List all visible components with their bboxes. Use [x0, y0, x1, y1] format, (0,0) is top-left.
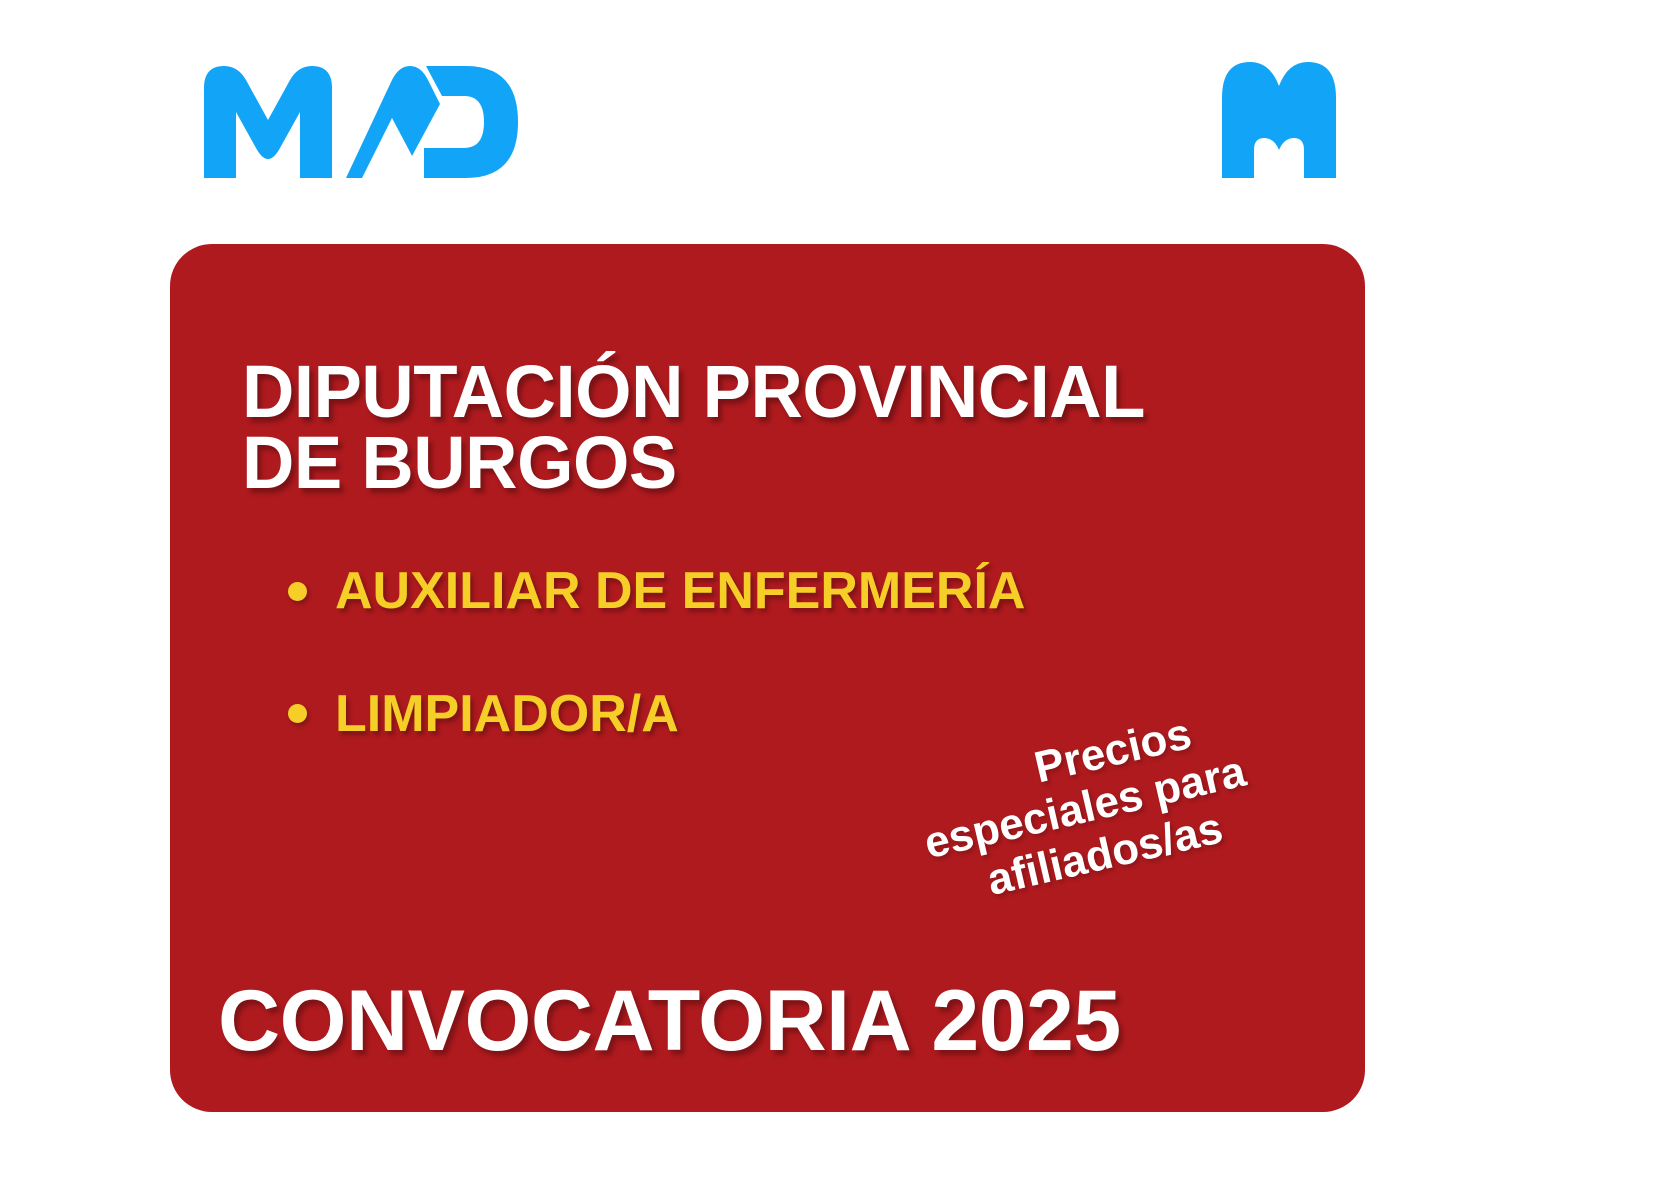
- bullet-dot-icon: [288, 582, 307, 601]
- announcement-card: DIPUTACIÓN PROVINCIAL DE BURGOS AUXILIAR…: [170, 244, 1365, 1112]
- poster-canvas: DIPUTACIÓN PROVINCIAL DE BURGOS AUXILIAR…: [0, 0, 1661, 1200]
- page-title: DIPUTACIÓN PROVINCIAL DE BURGOS: [242, 356, 1291, 500]
- mad-wordmark-logo[interactable]: [196, 60, 526, 180]
- position-label-auxiliar: AUXILIAR DE ENFERMERÍA: [335, 564, 1025, 619]
- convocatoria-footer: CONVOCATORIA 2025: [218, 978, 1121, 1064]
- list-item: AUXILIAR DE ENFERMERÍA: [288, 564, 1308, 619]
- bullet-dot-icon: [288, 704, 307, 723]
- title-line-1: DIPUTACIÓN PROVINCIAL: [242, 356, 1291, 428]
- title-line-2: DE BURGOS: [242, 427, 1291, 499]
- m-monogram-logo[interactable]: [1218, 58, 1340, 180]
- position-label-limpiador: LIMPIADOR/A: [335, 687, 679, 742]
